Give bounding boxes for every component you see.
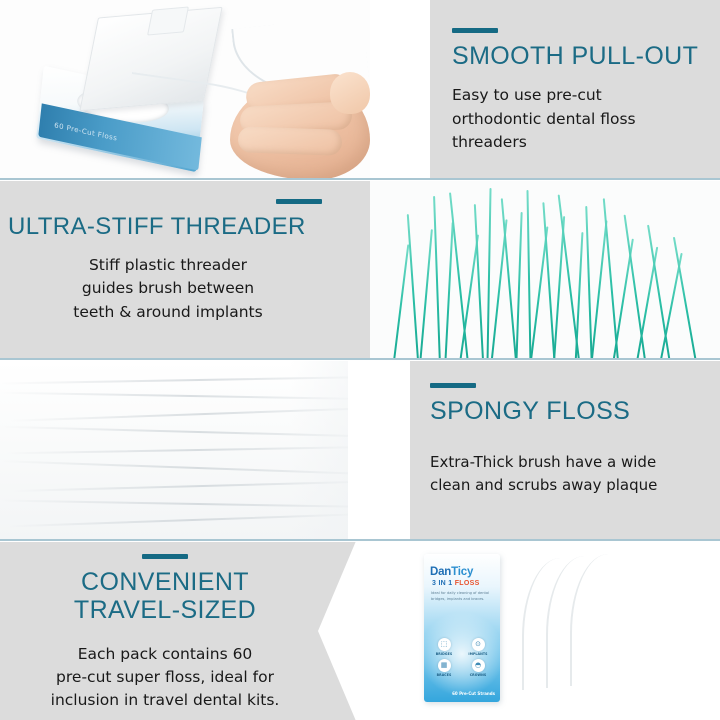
- accent-bar: [430, 383, 476, 388]
- strand-count-label: 60 Pre-Cut Strands: [452, 691, 495, 696]
- teal-strands-illustration: [370, 181, 720, 358]
- accent-bar: [142, 554, 188, 559]
- feature-body: Stiff plastic threader guides brush betw…: [28, 254, 308, 324]
- accent-bar: [452, 28, 498, 33]
- icon-label: BRACES: [430, 673, 458, 677]
- feature-body: Each pack contains 60 pre-cut super flos…: [0, 643, 330, 713]
- infographic-sheet: 60 Pre-Cut Floss SMOOTH PULL-OUT Easy to…: [0, 0, 720, 720]
- feature-image-smooth-pull-out: 60 Pre-Cut Floss: [0, 0, 430, 178]
- accent-bar: [276, 199, 322, 204]
- feature-text-ultra-stiff-threader: ULTRA-STIFF THREADER Stiff plastic threa…: [0, 181, 370, 358]
- product-icon-bridges: ⬚ BRIDGES: [430, 638, 458, 656]
- brand-part-one: Dan: [430, 566, 451, 578]
- thumb-tip: [330, 72, 370, 114]
- feature-text-smooth-pull-out: SMOOTH PULL-OUT Easy to use pre-cut orth…: [430, 0, 720, 178]
- feature-row-spongy-floss: SPONGY FLOSS Extra-Thick brush have a wi…: [0, 361, 720, 539]
- feature-heading: ULTRA-STIFF THREADER: [8, 213, 308, 240]
- feature-heading: SMOOTH PULL-OUT: [452, 42, 702, 70]
- crowns-icon: ◓: [472, 659, 485, 672]
- chevron-divider-icon: [300, 181, 370, 358]
- bridges-icon: ⬚: [438, 638, 451, 651]
- chevron-divider-icon: [370, 0, 430, 178]
- product-tagline: 3 IN 1 FLOSS: [432, 580, 480, 587]
- tagline-prefix: 3 IN 1: [432, 580, 455, 587]
- product-icon-crowns: ◓ CROWNS: [464, 659, 492, 677]
- product-icon-braces: ▦ BRACES: [430, 659, 458, 677]
- floss-box-lid-tab: [147, 6, 189, 35]
- brand-part-two: Ticy: [451, 566, 473, 578]
- implants-icon: ⊙: [472, 638, 485, 651]
- icon-label: BRIDGES: [430, 652, 458, 656]
- feature-body: Easy to use pre-cut orthodontic dental f…: [452, 84, 702, 154]
- feature-heading: SPONGY FLOSS: [430, 397, 720, 425]
- product-feature-icons: ⬚ BRIDGES ⊙ IMPLANTS ▦ BRACES ◓ CROWNS: [430, 638, 496, 677]
- feature-row-ultra-stiff-threader: ULTRA-STIFF THREADER Stiff plastic threa…: [0, 181, 720, 358]
- open-floss-box-illustration: 60 Pre-Cut Floss: [32, 12, 247, 172]
- feature-image-ultra-stiff-threader: [370, 181, 720, 358]
- finger: [238, 126, 343, 156]
- feature-image-spongy-floss: [0, 361, 410, 539]
- feature-body: Extra-Thick brush have a wide clean and …: [430, 451, 720, 496]
- feature-row-smooth-pull-out: 60 Pre-Cut Floss SMOOTH PULL-OUT Easy to…: [0, 0, 720, 178]
- feature-text-spongy-floss: SPONGY FLOSS Extra-Thick brush have a wi…: [410, 361, 720, 539]
- feature-row-convenient-travel-sized: CONVENIENT TRAVEL-SIZED Each pack contai…: [0, 542, 720, 720]
- product-description: Ideal for daily cleaning of dental bridg…: [431, 591, 493, 602]
- icon-label: IMPLANTS: [464, 652, 492, 656]
- feature-text-convenient-travel-sized: CONVENIENT TRAVEL-SIZED Each pack contai…: [0, 542, 400, 720]
- tagline-highlight: FLOSS: [455, 580, 480, 587]
- product-brand: DanTicy: [430, 566, 473, 578]
- product-icon-implants: ⊙ IMPLANTS: [464, 638, 492, 656]
- row-divider: [0, 358, 720, 360]
- chevron-divider-icon: [348, 361, 410, 539]
- icon-label: CROWNS: [464, 673, 492, 677]
- braces-icon: ▦: [438, 659, 451, 672]
- row-divider: [0, 178, 720, 180]
- chevron-divider-icon: [318, 542, 400, 720]
- feature-image-convenient-travel-sized: DanTicy 3 IN 1 FLOSS Ideal for daily cle…: [400, 542, 720, 720]
- product-box: DanTicy 3 IN 1 FLOSS Ideal for daily cle…: [424, 554, 500, 702]
- row-divider: [0, 539, 720, 541]
- feature-heading: CONVENIENT TRAVEL-SIZED: [0, 568, 330, 625]
